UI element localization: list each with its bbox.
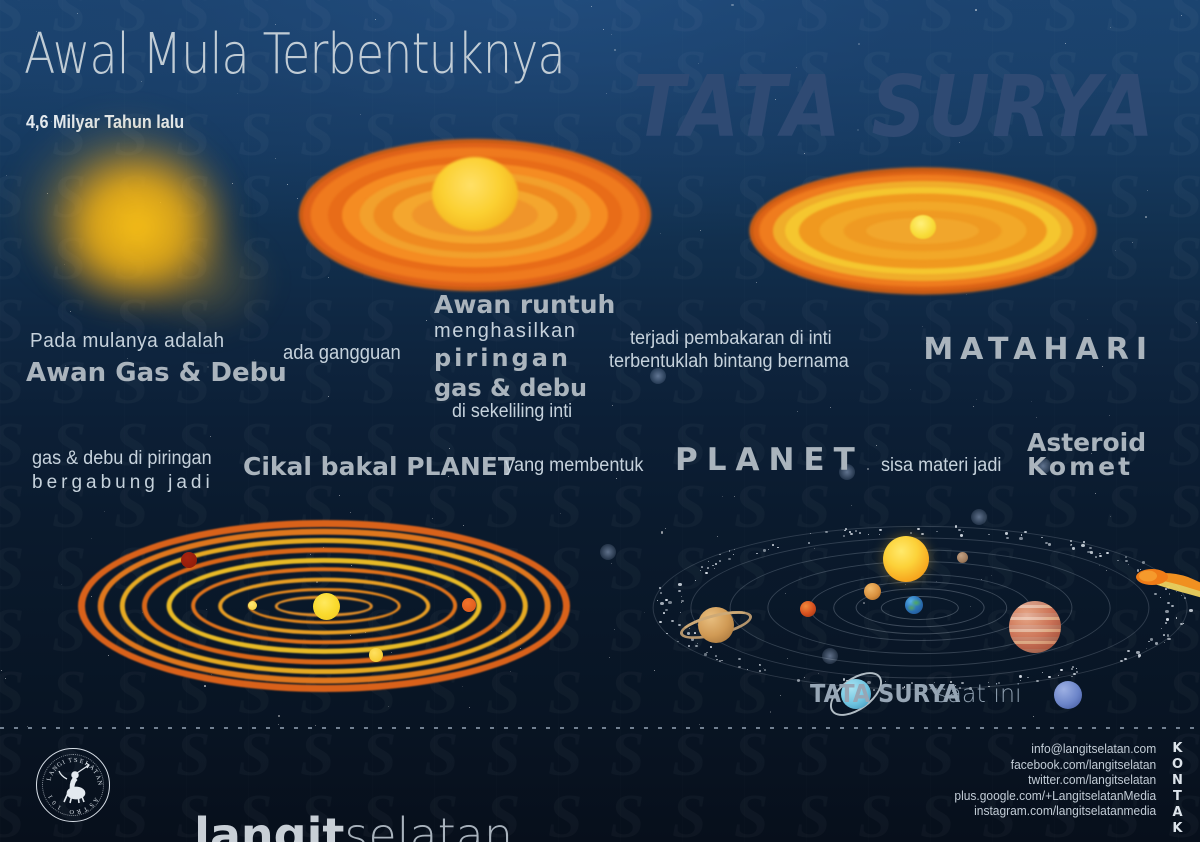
- star: [61, 584, 62, 585]
- watermark-letter: S: [858, 724, 892, 786]
- asteroid: [681, 602, 682, 603]
- asteroid: [1058, 675, 1059, 676]
- watermark-letter: S: [672, 786, 706, 842]
- star: [660, 233, 661, 234]
- star: [867, 468, 869, 470]
- protoplanet-yellow: [369, 648, 383, 662]
- planet-neptune: [1054, 681, 1082, 709]
- star: [104, 511, 105, 512]
- asteroid: [660, 602, 664, 605]
- star-glow: [600, 544, 616, 560]
- asteroid: [680, 612, 681, 613]
- star: [976, 399, 977, 400]
- watermark-letter: S: [858, 290, 892, 352]
- planet-sun: [883, 536, 929, 582]
- asteroid: [1048, 676, 1051, 678]
- asteroid: [665, 609, 668, 611]
- star: [275, 158, 276, 159]
- star: [297, 198, 298, 199]
- star: [616, 478, 617, 479]
- star: [591, 6, 592, 7]
- star: [1110, 27, 1111, 28]
- infographic-poster: SSSSSSSSSSSSSSSSSSSSSSSSSSSSSSSSSSSSSSSS…: [0, 0, 1200, 842]
- watermark-letter: S: [1106, 228, 1140, 290]
- star: [210, 436, 211, 437]
- asteroid: [764, 669, 766, 671]
- star: [609, 657, 610, 658]
- page-title: Awal Mula Terbentuknya: [24, 22, 565, 87]
- asteroid: [1027, 677, 1029, 678]
- asteroid: [707, 567, 709, 569]
- star: [1145, 216, 1147, 218]
- stage5-line1: gas & debu di piringan: [32, 448, 212, 470]
- contact-list: info@langitselatan.comfacebook.com/langi…: [954, 742, 1156, 820]
- star: [287, 184, 288, 185]
- asteroid: [808, 542, 810, 544]
- star: [922, 326, 923, 327]
- star: [560, 513, 561, 514]
- watermark-letter: S: [920, 724, 954, 786]
- star: [1031, 401, 1032, 402]
- star: [1065, 43, 1066, 44]
- kontak-letter: K: [1172, 821, 1184, 837]
- watermark-letter: S: [610, 724, 644, 786]
- disk-core: [432, 157, 518, 231]
- stage4-line2: terbentuklah bintang bernama: [609, 351, 849, 373]
- asteroid: [917, 528, 920, 531]
- asteroid: [678, 590, 680, 592]
- asteroid: [1081, 544, 1085, 547]
- watermark-letter: S: [0, 476, 24, 538]
- asteroid: [1125, 560, 1128, 562]
- star: [699, 724, 700, 725]
- asteroid: [695, 645, 698, 648]
- star: [611, 34, 612, 35]
- watermark-letter: S: [672, 166, 706, 228]
- asteroid: [719, 560, 722, 562]
- asteroid: [1148, 641, 1150, 643]
- asteroid: [1155, 642, 1158, 645]
- stage8-label-planet: PLANET: [675, 442, 864, 478]
- watermark-letter: S: [1106, 166, 1140, 228]
- watermark-letter: S: [672, 228, 706, 290]
- asteroid: [1099, 555, 1102, 557]
- asteroid: [712, 565, 713, 566]
- star: [278, 715, 280, 717]
- star: [339, 495, 340, 496]
- contact-item[interactable]: plus.google.com/+LangitselatanMedia: [954, 789, 1156, 805]
- asteroid: [678, 583, 681, 586]
- asteroid: [1120, 660, 1123, 663]
- asteroid: [763, 549, 766, 552]
- watermark-letter: S: [920, 786, 954, 842]
- kontak-letter: N: [1172, 773, 1184, 789]
- star: [315, 725, 316, 726]
- asteroid: [1076, 671, 1078, 673]
- asteroid: [1006, 537, 1009, 539]
- contact-item[interactable]: info@langitselatan.com: [954, 742, 1156, 758]
- watermark-letter: S: [610, 786, 644, 842]
- asteroid: [729, 550, 731, 551]
- asteroid: [1073, 673, 1076, 675]
- asteroid: [738, 658, 741, 660]
- asteroid: [1087, 551, 1090, 554]
- watermark-letter: S: [0, 290, 24, 352]
- star: [1181, 15, 1182, 16]
- asteroid: [759, 670, 761, 672]
- asteroid: [772, 544, 774, 546]
- asteroid: [1070, 540, 1073, 542]
- star: [614, 49, 616, 51]
- star: [973, 406, 974, 407]
- asteroid: [1095, 556, 1097, 558]
- star: [612, 405, 613, 406]
- asteroid: [715, 655, 717, 657]
- stage4-label-matahari: MATAHARI: [923, 332, 1154, 367]
- asteroid: [715, 563, 717, 565]
- asteroid: [695, 580, 696, 581]
- asteroid: [734, 549, 735, 550]
- watermark-letter: S: [0, 786, 24, 842]
- asteroid: [668, 601, 671, 604]
- asteroid: [843, 535, 845, 537]
- protoplanetary-disk-star: [750, 168, 1095, 293]
- asteroid: [659, 621, 661, 623]
- contact-item[interactable]: twitter.com/langitselatan: [954, 773, 1156, 789]
- stage1-line1: Pada mulanya adalah: [30, 330, 225, 353]
- asteroid: [1089, 547, 1092, 550]
- watermark-letter: S: [982, 0, 1016, 42]
- asteroid: [705, 572, 707, 574]
- star: [388, 706, 389, 707]
- asteroid: [1138, 654, 1142, 657]
- watermark-letter: S: [672, 724, 706, 786]
- stage9-label: sisa materi jadi: [881, 455, 1001, 477]
- watermark-letter: S: [1168, 166, 1200, 228]
- asteroid: [1150, 638, 1153, 641]
- watermark-letter: S: [1168, 0, 1200, 42]
- watermark-letter: S: [796, 786, 830, 842]
- kontak-letter: T: [1172, 789, 1184, 805]
- langitselatan-seal-logo: LANGITSELATANASTRO 101: [36, 748, 110, 822]
- protoplanet-red: [181, 552, 197, 568]
- asteroid: [804, 677, 805, 678]
- sagittarius-centaur-icon: [37, 749, 111, 823]
- star: [966, 294, 967, 295]
- watermark-letter: S: [548, 724, 582, 786]
- watermark-letter: S: [1168, 352, 1200, 414]
- watermark-letter: S: [0, 538, 24, 600]
- asteroid: [797, 679, 800, 682]
- asteroid: [1072, 666, 1074, 668]
- stage4-line1: terjadi pembakaran di inti: [630, 328, 832, 350]
- watermark-letter: S: [0, 352, 24, 414]
- stage3-line5: di sekeliling inti: [452, 401, 572, 423]
- kontak-letter: A: [1172, 805, 1184, 821]
- kontak-letter: K: [1172, 741, 1184, 757]
- star: [797, 411, 798, 412]
- star: [469, 707, 470, 708]
- asteroid: [1161, 628, 1163, 629]
- watermark-letter: S: [0, 42, 24, 104]
- asteroid: [988, 534, 990, 536]
- watermark-letter: S: [0, 414, 24, 476]
- brand-bold: langit: [194, 808, 344, 842]
- watermark-letter: S: [0, 662, 24, 724]
- asteroid: [845, 528, 847, 530]
- watermark-letter: S: [734, 0, 768, 42]
- stage3-line1: Awan runtuh: [434, 290, 615, 319]
- asteroid: [716, 659, 718, 660]
- asteroid: [756, 553, 758, 555]
- star: [603, 29, 604, 30]
- asteroid: [1106, 552, 1109, 554]
- asteroid: [666, 633, 668, 634]
- star: [734, 496, 735, 497]
- asteroid: [810, 533, 812, 534]
- asteroid: [1060, 669, 1063, 671]
- star: [1196, 322, 1197, 323]
- star: [731, 4, 733, 6]
- asteroid: [1128, 564, 1129, 565]
- star: [278, 724, 279, 725]
- asteroid: [1124, 658, 1127, 660]
- planet-mercury: [957, 552, 968, 563]
- asteroid: [660, 592, 662, 594]
- asteroid: [1180, 623, 1183, 625]
- star: [1087, 319, 1088, 320]
- star: [350, 512, 351, 513]
- star: [611, 563, 612, 564]
- watermark-letter: S: [858, 786, 892, 842]
- asteroid: [1024, 531, 1026, 533]
- star: [5, 678, 6, 679]
- asteroid: [879, 534, 881, 535]
- star: [432, 518, 433, 519]
- proto-sun: [313, 593, 340, 620]
- star: [1115, 250, 1116, 251]
- stage6-label: Cikal bakal PLANET: [243, 452, 515, 481]
- asteroid: [825, 531, 829, 534]
- asteroid: [1072, 547, 1075, 550]
- asteroid: [677, 641, 679, 643]
- star: [858, 43, 860, 45]
- star: [1095, 493, 1096, 494]
- solar-system-caption-light: saat ini: [935, 679, 1022, 708]
- asteroid: [955, 525, 958, 527]
- stage7-label: yang membentuk: [505, 455, 643, 477]
- asteroid: [859, 532, 861, 534]
- asteroid: [936, 531, 938, 532]
- asteroid: [1070, 544, 1072, 546]
- star: [830, 407, 831, 408]
- asteroid: [1048, 543, 1051, 545]
- stage3-line3: piringan: [434, 344, 571, 372]
- contact-item[interactable]: facebook.com/langitselatan: [954, 758, 1156, 774]
- star: [1132, 242, 1133, 243]
- asteroid: [855, 530, 857, 531]
- watermark-letter: S: [1044, 0, 1078, 42]
- asteroid: [958, 529, 961, 531]
- stage3-line4: gas & debu: [434, 374, 587, 402]
- brand-light: selatan: [344, 808, 513, 842]
- watermark-letter: S: [1106, 0, 1140, 42]
- watermark-letter: S: [0, 0, 24, 42]
- protoplanet-yellow-small: [248, 601, 257, 610]
- star: [1033, 716, 1034, 717]
- star: [375, 19, 376, 20]
- asteroid: [1083, 541, 1085, 543]
- asteroid: [1019, 675, 1022, 678]
- star: [1147, 190, 1148, 191]
- asteroid: [733, 554, 735, 555]
- asteroid: [759, 664, 761, 666]
- star: [700, 230, 701, 231]
- asteroid: [1041, 537, 1043, 539]
- watermark-letter: S: [1168, 104, 1200, 166]
- asteroid: [704, 653, 707, 655]
- asteroid: [701, 566, 704, 568]
- gas-cloud-nebula: [14, 122, 272, 350]
- asteroid: [960, 534, 964, 537]
- watermark-letter: S: [610, 0, 644, 42]
- asteroid: [719, 554, 721, 556]
- asteroid: [1117, 560, 1119, 561]
- footer-divider: [0, 727, 1200, 729]
- watermark-letter: S: [734, 786, 768, 842]
- asteroid: [1164, 642, 1165, 643]
- asteroid: [688, 645, 690, 647]
- stage10-line2-komet: Komet: [1027, 452, 1133, 481]
- kontak-vertical-label: KONTAK: [1172, 741, 1184, 837]
- planet-venus: [864, 583, 881, 600]
- stage3-line2: menghasilkan: [434, 320, 577, 343]
- watermark-letter: S: [672, 0, 706, 42]
- watermark-letter: S: [1168, 42, 1200, 104]
- jupiter-bands: [1009, 601, 1061, 653]
- asteroid: [1019, 537, 1023, 540]
- asteroid: [879, 529, 882, 531]
- asteroid: [714, 568, 715, 569]
- asteroid: [1163, 634, 1165, 636]
- watermark-letter: S: [858, 0, 892, 42]
- asteroid: [963, 531, 965, 532]
- brand-wordmark: langitselatan: [143, 757, 513, 842]
- asteroid: [663, 612, 665, 614]
- asteroid: [777, 547, 779, 549]
- asteroid: [1125, 556, 1127, 558]
- asteroid: [700, 570, 701, 571]
- asteroid: [1099, 553, 1101, 554]
- asteroid: [1005, 532, 1008, 534]
- star: [975, 9, 977, 11]
- planet-mars: [800, 601, 816, 617]
- asteroid: [738, 666, 741, 668]
- star: [237, 93, 238, 94]
- asteroid: [747, 669, 749, 671]
- asteroid: [1076, 668, 1077, 669]
- star: [910, 389, 911, 390]
- asteroid: [721, 660, 723, 661]
- star: [1036, 417, 1037, 418]
- watermark-letter: S: [0, 600, 24, 662]
- asteroid: [681, 596, 683, 598]
- kontak-letter: O: [1172, 757, 1184, 773]
- page-title-ghost: TATA SURYA: [633, 57, 1156, 157]
- asteroid: [910, 532, 913, 534]
- star: [1, 670, 2, 671]
- watermark-letter: S: [858, 352, 892, 414]
- asteroid: [671, 620, 674, 623]
- watermark-letter: S: [0, 104, 24, 166]
- comet: [1136, 563, 1200, 623]
- asteroid: [921, 533, 924, 535]
- asteroid: [710, 646, 713, 648]
- watermark-letter: S: [1168, 290, 1200, 352]
- star: [449, 448, 450, 449]
- asteroid: [1042, 672, 1043, 673]
- star: [606, 93, 607, 94]
- watermark-letter: S: [548, 786, 582, 842]
- watermark-letter: S: [1168, 228, 1200, 290]
- watermark-letter: S: [920, 0, 954, 42]
- contact-item[interactable]: instagram.com/langitselatanmedia: [954, 804, 1156, 820]
- asteroid: [768, 549, 769, 550]
- asteroid: [1036, 680, 1039, 683]
- star: [426, 320, 427, 321]
- watermark-letter: S: [0, 724, 24, 786]
- asteroid: [728, 558, 731, 561]
- watermark-letter: S: [796, 0, 830, 42]
- asteroid: [678, 624, 681, 626]
- star: [6, 175, 7, 176]
- asteroid: [1021, 534, 1023, 535]
- star: [77, 13, 78, 14]
- asteroid: [1167, 634, 1170, 636]
- asteroid: [1071, 668, 1073, 670]
- asteroid: [697, 643, 698, 644]
- protoplanet-ring-system: [78, 520, 570, 692]
- watermark-letter: S: [734, 724, 768, 786]
- star: [614, 629, 615, 630]
- star: [360, 114, 361, 115]
- star: [1109, 415, 1110, 416]
- stage5-line2: bergabung jadi: [32, 472, 214, 494]
- asteroid: [657, 600, 658, 601]
- asteroid: [1167, 638, 1170, 641]
- asteroid: [1071, 676, 1073, 678]
- asteroid: [1127, 650, 1130, 653]
- asteroid: [850, 533, 853, 535]
- asteroid: [719, 660, 721, 662]
- asteroid: [868, 534, 869, 535]
- star: [876, 445, 877, 446]
- asteroid: [708, 561, 709, 562]
- stage1-line2: Awan Gas & Debu: [26, 358, 287, 388]
- stage2-label: ada gangguan: [283, 342, 401, 365]
- watermark-letter: S: [796, 724, 830, 786]
- star: [328, 396, 329, 397]
- watermark-letter: S: [1168, 414, 1200, 476]
- protoplanetary-disk-collapse: [300, 140, 650, 290]
- disk-core: [910, 215, 936, 239]
- asteroid: [659, 587, 662, 589]
- star: [722, 496, 723, 497]
